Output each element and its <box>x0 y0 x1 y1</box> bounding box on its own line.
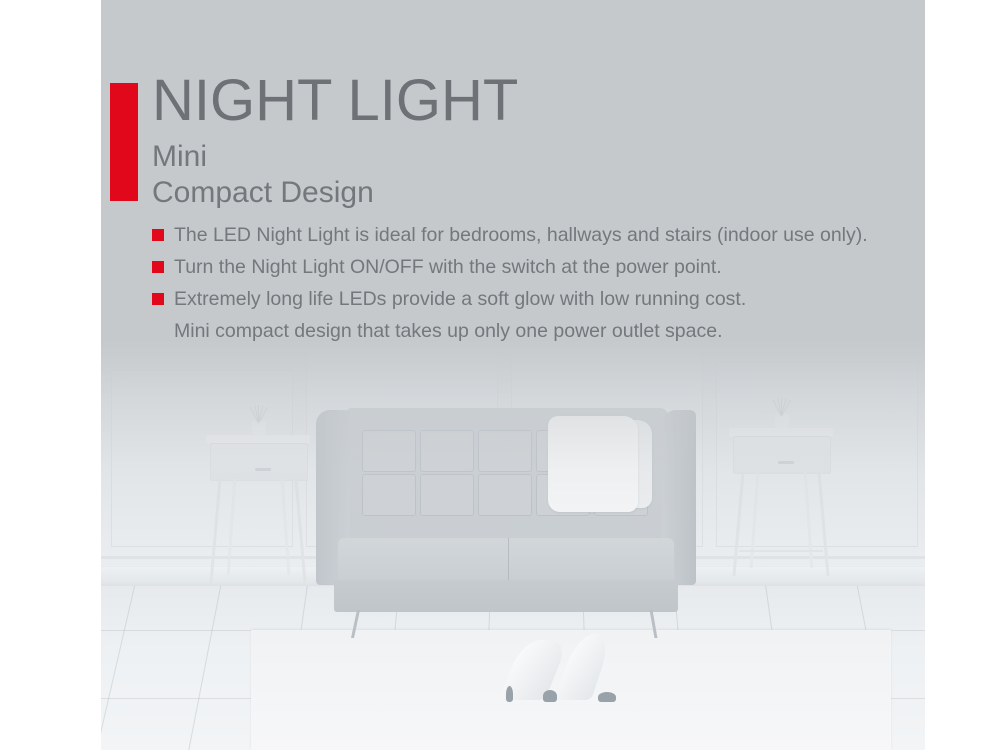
sofa-base <box>334 580 678 612</box>
drawer-handle <box>255 468 271 471</box>
bullet-square-icon <box>152 293 164 305</box>
subtitle-line-1: Mini <box>152 141 207 173</box>
sofa <box>316 408 696 623</box>
product-image-canvas: NIGHT LIGHT Mini Compact Design The LED … <box>0 0 1000 750</box>
product-panel: NIGHT LIGHT Mini Compact Design The LED … <box>101 0 925 750</box>
feature-text: Mini compact design that takes up only o… <box>174 318 723 345</box>
bullet-square-icon <box>152 229 164 241</box>
cushion-front <box>548 416 638 512</box>
bullet-spacer <box>152 325 164 337</box>
rug-fold <box>555 634 612 700</box>
sofa-seat <box>338 538 674 586</box>
feature-text: Turn the Night Light ON/OFF with the swi… <box>174 254 722 281</box>
side-table-right <box>729 428 833 578</box>
feature-item: The LED Night Light is ideal for bedroom… <box>152 222 868 254</box>
feature-item: Extremely long life LEDs provide a soft … <box>152 286 868 318</box>
feature-item: Mini compact design that takes up only o… <box>152 318 868 350</box>
page-title: NIGHT LIGHT <box>152 72 518 130</box>
side-table-left <box>206 435 310 585</box>
red-accent-bar <box>110 83 138 201</box>
drawer-handle <box>778 461 794 464</box>
feature-item: Turn the Night Light ON/OFF with the swi… <box>152 254 868 286</box>
feature-text: Extremely long life LEDs provide a soft … <box>174 286 746 313</box>
floor-rug <box>251 630 891 750</box>
bullet-square-icon <box>152 261 164 273</box>
feature-list: The LED Night Light is ideal for bedroom… <box>152 222 868 350</box>
subtitle-line-2: Compact Design <box>152 177 374 209</box>
feature-text: The LED Night Light is ideal for bedroom… <box>174 222 868 249</box>
